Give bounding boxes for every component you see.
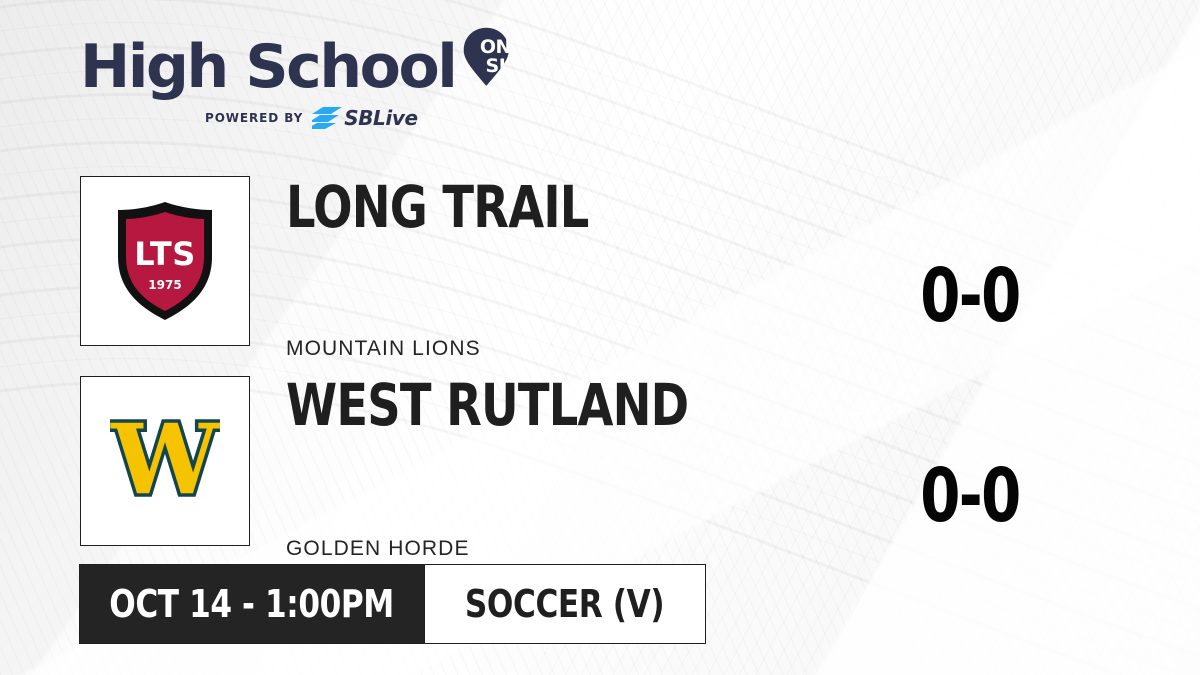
away-team-score: 0-0 bbox=[900, 259, 1040, 333]
away-team-mascot: MOUNTAIN LIONS bbox=[286, 338, 481, 359]
game-sport-segment: SOCCER (V) bbox=[424, 565, 705, 643]
home-team-mascot: GOLDEN HORDE bbox=[286, 538, 470, 559]
on-si-pin-icon: ON SI bbox=[463, 27, 510, 109]
game-sport-label: SOCCER (V) bbox=[465, 585, 664, 623]
west-rutland-w-icon: W bbox=[110, 415, 220, 507]
game-info-bar: OCT 14 - 1:00PM SOCCER (V) bbox=[79, 564, 706, 644]
on-si-pin-label: ON SI bbox=[463, 38, 527, 76]
brand-row: High School ON SI bbox=[80, 31, 510, 103]
away-team-name: LONG TRAIL bbox=[286, 178, 589, 236]
sblive-chevron-icon bbox=[312, 107, 342, 129]
sblive-wordmark: SBLive bbox=[344, 106, 417, 130]
powered-by-row: POWERED BY SBLive bbox=[80, 106, 510, 130]
game-datetime-segment: OCT 14 - 1:00PM bbox=[80, 565, 424, 643]
powered-by-label: POWERED BY bbox=[205, 111, 303, 125]
away-team-logo-box: LTS 1975 bbox=[80, 176, 250, 346]
scoreboard-graphic: High School ON SI POWERED BY bbox=[0, 0, 1200, 675]
w-letter: W bbox=[110, 415, 220, 507]
game-datetime-label: OCT 14 - 1:00PM bbox=[110, 585, 395, 623]
home-team-logo-box: W bbox=[80, 376, 250, 546]
home-team-name: WEST RUTLAND bbox=[286, 376, 688, 434]
long-trail-shield-icon: LTS 1975 bbox=[113, 199, 217, 323]
brand-wordmark: High School bbox=[80, 37, 455, 97]
pin-label-line2: SI bbox=[463, 57, 527, 76]
home-team-score: 0-0 bbox=[900, 459, 1040, 533]
brand-header: High School ON SI POWERED BY bbox=[80, 31, 510, 136]
shield-year: 1975 bbox=[148, 278, 181, 292]
shield-initials: LTS bbox=[134, 235, 195, 273]
